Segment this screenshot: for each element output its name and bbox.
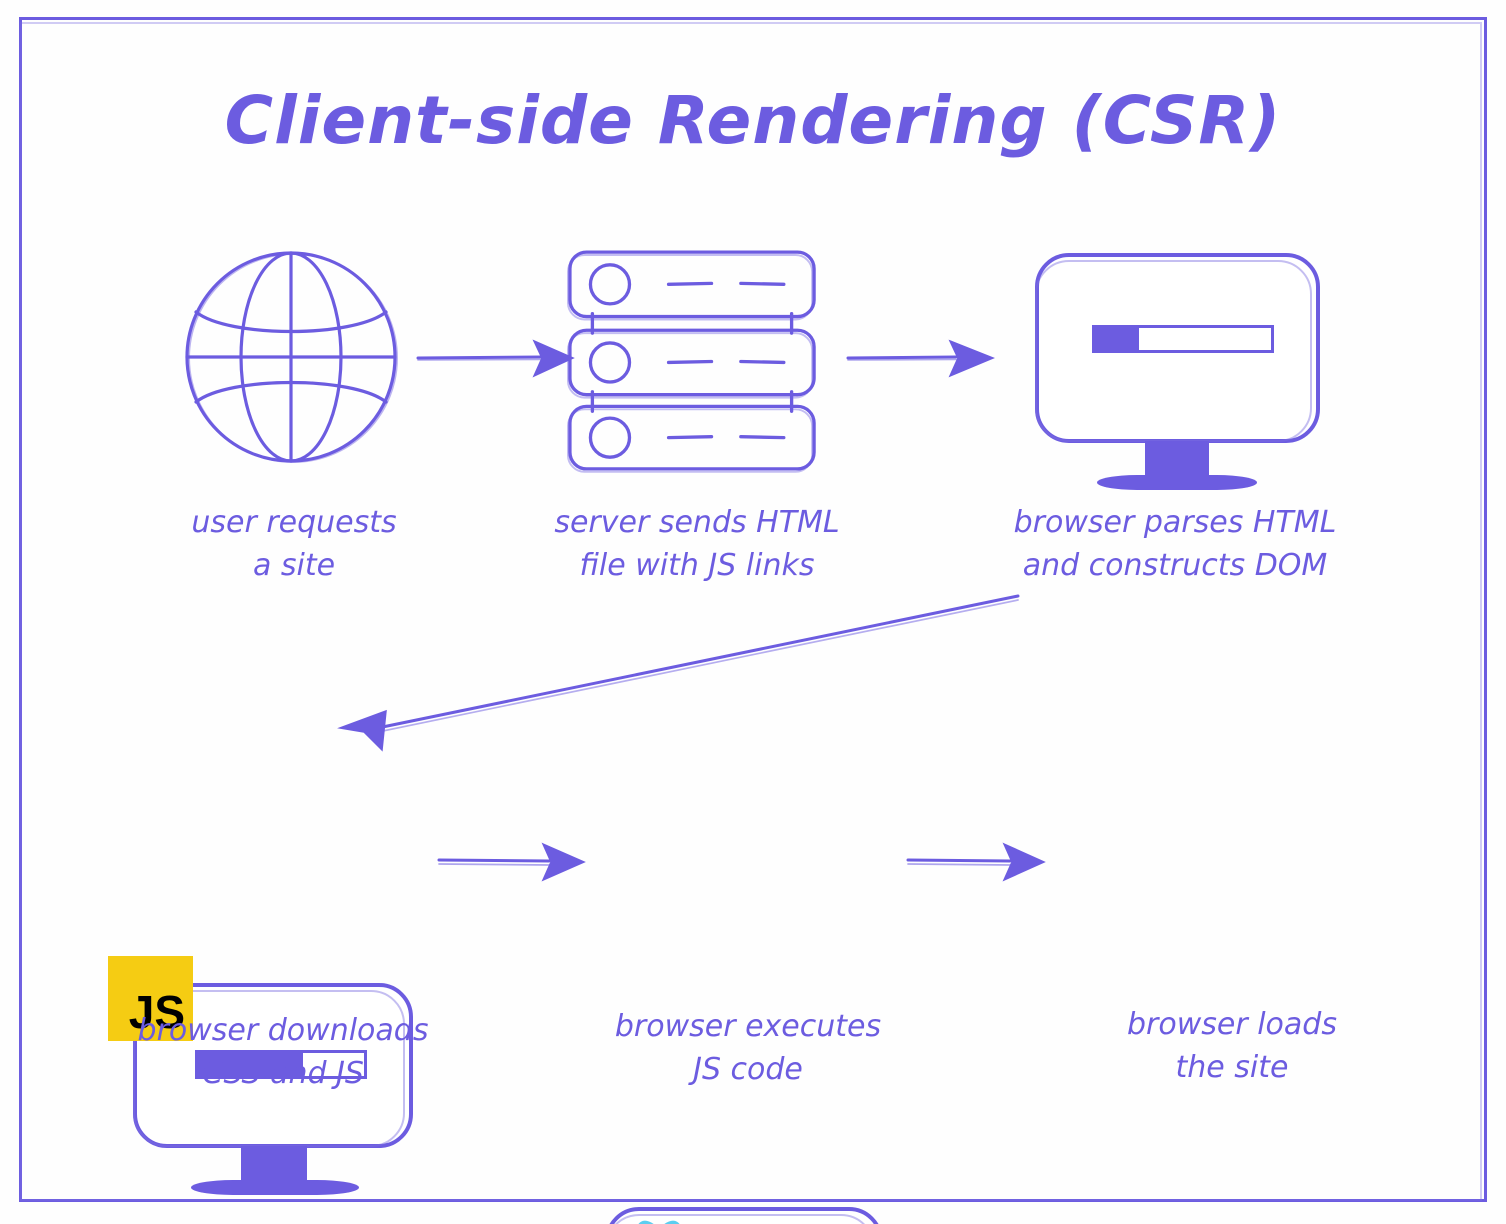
monitor-stand-base	[191, 1180, 359, 1195]
diagram-canvas: Client-side Rendering (CSR) user request…	[0, 0, 1506, 1224]
progress-bar-fill	[1095, 328, 1139, 350]
step-2-caption: server sends HTML file with JS links	[527, 502, 867, 587]
react-logo-icon	[622, 1219, 696, 1224]
step-5-monitor: JS	[605, 1207, 900, 1224]
globe-icon	[184, 250, 399, 465]
monitor-stand-base	[1097, 475, 1257, 490]
arrow-globe-to-server	[416, 333, 576, 383]
monitor-screen	[1035, 253, 1320, 443]
step-1-caption: user requests a site	[144, 502, 444, 587]
step-3-caption: browser parses HTML and constructs DOM	[965, 502, 1385, 587]
step-2-server	[567, 248, 817, 473]
arrow-download-to-execute	[437, 838, 587, 888]
monitor-screen: JS	[605, 1207, 883, 1224]
progress-bar	[1092, 325, 1274, 353]
step-3-monitor	[1035, 253, 1325, 478]
step-5-caption: browser executes JS code	[568, 1006, 928, 1091]
server-stack-icon	[567, 248, 817, 473]
step-4-caption: browser downloads CSS and JS	[93, 1010, 473, 1095]
step-6-caption: browser loads the site	[1082, 1004, 1382, 1089]
page-title: Client-side Rendering (CSR)	[0, 82, 1506, 159]
arrow-dom-to-download	[330, 590, 1030, 755]
arrow-server-to-monitor	[846, 333, 996, 383]
arrow-execute-to-loaded	[906, 838, 1046, 888]
step-1-globe	[184, 250, 399, 465]
